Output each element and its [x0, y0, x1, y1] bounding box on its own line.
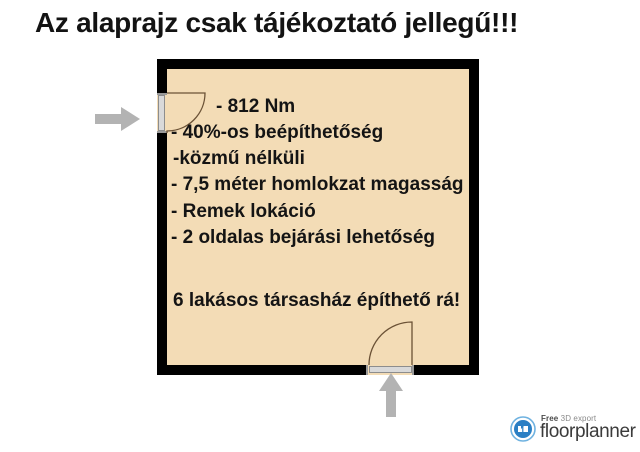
bottom-entry-arrow-icon [378, 372, 404, 418]
left-door-leaf [158, 95, 165, 131]
page-title: Az alaprajz csak tájékoztató jellegű!!! [35, 6, 615, 40]
floorplan-canvas: - 812 Nm - 40%-os beépíthetőség -közmű n… [0, 46, 640, 386]
floorplanner-watermark: Free 3D export floorplanner [505, 410, 635, 450]
left-door-swing-arc [165, 91, 215, 137]
bottom-door-swing-arc [366, 318, 418, 368]
left-entry-arrow-icon [95, 106, 141, 132]
floorplanner-badge-icon [510, 416, 536, 442]
watermark-brand: floorplanner [540, 422, 636, 442]
